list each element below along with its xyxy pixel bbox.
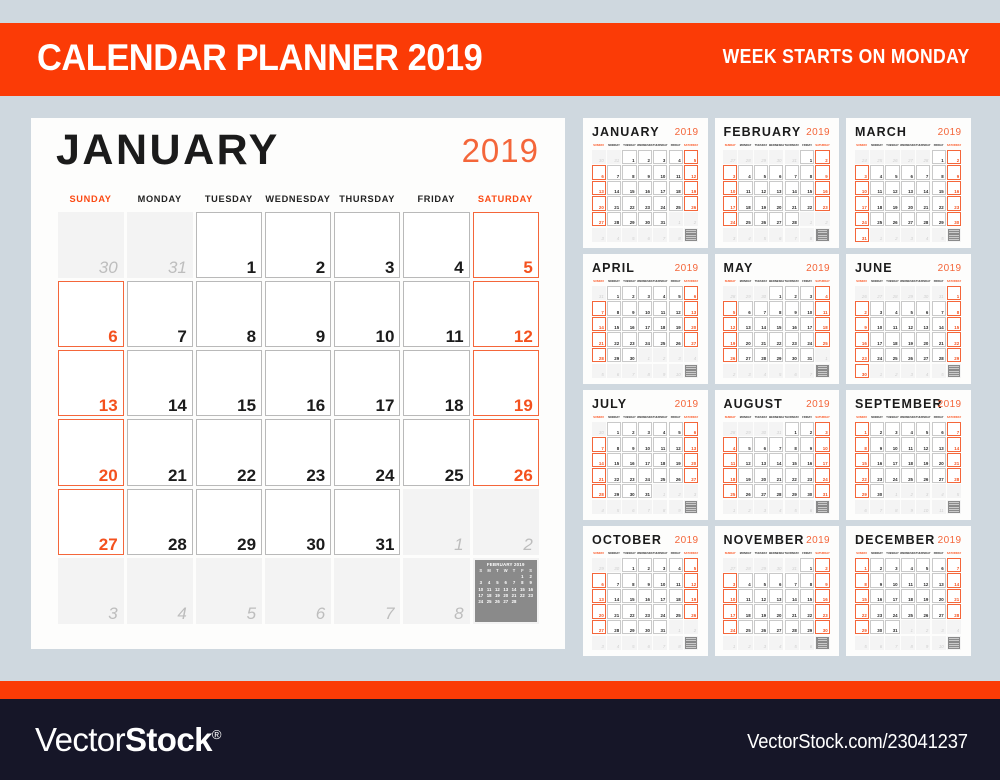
- mini-day-cell[interactable]: 1: [800, 150, 814, 164]
- mini-day-cell[interactable]: 8: [785, 437, 799, 451]
- mini-month-card-august[interactable]: AUGUST2019SUNDAYMONDAYTUESDAYWEDNESDAYTH…: [715, 390, 840, 520]
- mini-day-cell[interactable]: 27: [723, 150, 737, 164]
- main-day-cell[interactable]: 2: [473, 489, 539, 555]
- mini-day-cell[interactable]: 3: [592, 228, 606, 242]
- mini-day-cell[interactable]: 2: [638, 558, 652, 572]
- mini-day-cell[interactable]: 7: [885, 636, 899, 650]
- mini-day-cell[interactable]: 4: [901, 422, 915, 436]
- mini-day-cell[interactable]: 28: [785, 212, 799, 226]
- mini-day-cell[interactable]: 24: [855, 150, 869, 164]
- mini-month-card-february[interactable]: FEBRUARY2019SUNDAYMONDAYTUESDAYWEDNESDAY…: [715, 118, 840, 248]
- mini-day-cell[interactable]: 8: [947, 301, 961, 315]
- mini-day-cell[interactable]: 10: [932, 636, 946, 650]
- mini-day-cell[interactable]: 4: [684, 348, 698, 362]
- mini-day-cell[interactable]: 1: [669, 212, 683, 226]
- mini-day-cell[interactable]: 20: [932, 453, 946, 467]
- main-day-cell[interactable]: 1: [403, 489, 469, 555]
- mini-day-cell[interactable]: 6: [916, 301, 930, 315]
- mini-day-cell[interactable]: 6: [785, 364, 799, 378]
- mini-day-cell[interactable]: 2: [785, 286, 799, 300]
- mini-day-cell[interactable]: 4: [815, 286, 829, 300]
- mini-day-cell[interactable]: 25: [738, 212, 752, 226]
- main-day-cell[interactable]: 30: [265, 489, 331, 555]
- mini-day-cell[interactable]: 12: [738, 453, 752, 467]
- mini-day-cell[interactable]: 5: [901, 301, 915, 315]
- mini-day-cell[interactable]: 28: [607, 212, 621, 226]
- mini-day-cell[interactable]: 31: [769, 422, 783, 436]
- main-day-cell[interactable]: 16: [265, 350, 331, 416]
- mini-day-cell[interactable]: 19: [669, 453, 683, 467]
- mini-day-cell[interactable]: 6: [870, 636, 884, 650]
- mini-day-cell[interactable]: 30: [870, 484, 884, 498]
- mini-day-cell[interactable]: 16: [622, 317, 636, 331]
- mini-day-cell[interactable]: 28: [738, 150, 752, 164]
- main-day-cell[interactable]: 13: [58, 350, 124, 416]
- mini-day-cell[interactable]: 5: [754, 228, 768, 242]
- mini-day-cell[interactable]: 5: [592, 364, 606, 378]
- mini-day-cell[interactable]: 17: [653, 181, 667, 195]
- mini-day-cell[interactable]: 24: [870, 348, 884, 362]
- mini-day-cell[interactable]: 24: [638, 468, 652, 482]
- mini-day-cell[interactable]: 11: [901, 437, 915, 451]
- mini-day-cell[interactable]: 27: [916, 348, 930, 362]
- main-day-cell[interactable]: 4: [127, 558, 193, 624]
- mini-day-cell[interactable]: 1: [785, 422, 799, 436]
- mini-day-cell[interactable]: 15: [800, 589, 814, 603]
- mini-day-cell[interactable]: 21: [947, 453, 961, 467]
- mini-day-cell[interactable]: 4: [607, 228, 621, 242]
- mini-day-cell[interactable]: 1: [855, 422, 869, 436]
- mini-day-cell[interactable]: 1: [901, 620, 915, 634]
- mini-day-cell[interactable]: 31: [653, 212, 667, 226]
- mini-day-cell[interactable]: 5: [754, 165, 768, 179]
- mini-day-cell[interactable]: 28: [592, 348, 606, 362]
- mini-day-cell[interactable]: 21: [592, 332, 606, 346]
- mini-day-cell[interactable]: 30: [592, 422, 606, 436]
- mini-day-cell[interactable]: 2: [738, 500, 752, 514]
- mini-day-cell[interactable]: 30: [916, 286, 930, 300]
- mini-day-cell[interactable]: 6: [901, 165, 915, 179]
- mini-day-cell[interactable]: 4: [653, 286, 667, 300]
- mini-day-cell[interactable]: 19: [916, 453, 930, 467]
- mini-day-cell[interactable]: 24: [638, 332, 652, 346]
- mini-day-cell[interactable]: 20: [901, 196, 915, 210]
- mini-day-cell[interactable]: 14: [947, 573, 961, 587]
- mini-day-cell[interactable]: 9: [622, 437, 636, 451]
- mini-day-cell[interactable]: 1: [622, 558, 636, 572]
- mini-day-cell[interactable]: 10: [916, 500, 930, 514]
- mini-day-cell[interactable]: 16: [622, 453, 636, 467]
- mini-day-cell[interactable]: 17: [638, 317, 652, 331]
- mini-day-cell[interactable]: 29: [592, 558, 606, 572]
- mini-day-cell[interactable]: 1: [769, 286, 783, 300]
- mini-day-cell[interactable]: 7: [916, 165, 930, 179]
- mini-day-cell[interactable]: 2: [870, 558, 884, 572]
- mini-day-cell[interactable]: 1: [607, 286, 621, 300]
- mini-day-cell[interactable]: 9: [800, 437, 814, 451]
- mini-day-cell[interactable]: 5: [932, 364, 946, 378]
- mini-day-cell[interactable]: 19: [754, 604, 768, 618]
- mini-day-cell[interactable]: 5: [916, 422, 930, 436]
- mini-day-cell[interactable]: 4: [769, 636, 783, 650]
- mini-day-cell[interactable]: 18: [870, 196, 884, 210]
- mini-day-cell[interactable]: 23: [815, 604, 829, 618]
- mini-day-cell[interactable]: 29: [622, 620, 636, 634]
- mini-day-cell[interactable]: 27: [592, 212, 606, 226]
- mini-day-cell[interactable]: 17: [800, 317, 814, 331]
- mini-day-cell[interactable]: 14: [916, 181, 930, 195]
- mini-day-cell[interactable]: 7: [592, 301, 606, 315]
- mini-day-cell[interactable]: 21: [785, 604, 799, 618]
- mini-day-cell[interactable]: 21: [947, 589, 961, 603]
- mini-day-cell[interactable]: 5: [669, 422, 683, 436]
- mini-month-card-october[interactable]: OCTOBER2019SUNDAYMONDAYTUESDAYWEDNESDAYT…: [583, 526, 708, 656]
- mini-day-cell-badge[interactable]: [815, 364, 829, 378]
- mini-day-cell[interactable]: 29: [738, 286, 752, 300]
- mini-day-cell[interactable]: 21: [607, 196, 621, 210]
- mini-day-cell[interactable]: 6: [754, 437, 768, 451]
- mini-day-cell[interactable]: 3: [815, 422, 829, 436]
- mini-day-cell[interactable]: 5: [669, 286, 683, 300]
- mini-day-cell[interactable]: 20: [684, 453, 698, 467]
- mini-day-cell[interactable]: 17: [723, 604, 737, 618]
- mini-day-cell[interactable]: 4: [738, 165, 752, 179]
- mini-day-cell[interactable]: 13: [916, 317, 930, 331]
- main-day-cell[interactable]: 8: [196, 281, 262, 347]
- mini-day-cell[interactable]: 9: [815, 165, 829, 179]
- main-day-cell[interactable]: 18: [403, 350, 469, 416]
- mini-day-cell[interactable]: 9: [916, 636, 930, 650]
- mini-day-cell[interactable]: 17: [815, 453, 829, 467]
- mini-day-cell[interactable]: 7: [638, 500, 652, 514]
- mini-day-cell[interactable]: 28: [916, 150, 930, 164]
- mini-day-cell[interactable]: 11: [723, 453, 737, 467]
- mini-day-cell[interactable]: 2: [684, 620, 698, 634]
- mini-day-cell[interactable]: 7: [653, 228, 667, 242]
- mini-day-cell[interactable]: 22: [622, 196, 636, 210]
- mini-day-cell[interactable]: 8: [885, 500, 899, 514]
- mini-day-cell[interactable]: 31: [638, 484, 652, 498]
- mini-day-cell[interactable]: 3: [754, 636, 768, 650]
- mini-day-cell[interactable]: 4: [738, 573, 752, 587]
- mini-day-cell[interactable]: 5: [723, 301, 737, 315]
- mini-day-cell[interactable]: 8: [901, 636, 915, 650]
- mini-day-cell[interactable]: 16: [800, 453, 814, 467]
- mini-day-cell[interactable]: 13: [738, 317, 752, 331]
- mini-day-cell[interactable]: 30: [855, 364, 869, 378]
- mini-day-cell[interactable]: 4: [870, 165, 884, 179]
- main-day-cell[interactable]: 27: [58, 489, 124, 555]
- mini-day-cell[interactable]: 8: [607, 437, 621, 451]
- mini-day-cell[interactable]: 7: [622, 364, 636, 378]
- mini-day-cell[interactable]: 22: [855, 468, 869, 482]
- mini-day-cell[interactable]: 26: [901, 348, 915, 362]
- main-day-cell[interactable]: 6: [265, 558, 331, 624]
- mini-day-cell[interactable]: 16: [638, 181, 652, 195]
- mini-day-cell[interactable]: 13: [769, 589, 783, 603]
- mini-day-cell[interactable]: 23: [622, 468, 636, 482]
- mini-day-cell[interactable]: 27: [754, 484, 768, 498]
- mini-day-cell[interactable]: 15: [800, 181, 814, 195]
- mini-day-cell[interactable]: 25: [885, 348, 899, 362]
- main-day-cell[interactable]: 31: [127, 212, 193, 278]
- mini-day-cell[interactable]: 23: [870, 468, 884, 482]
- mini-day-cell[interactable]: 2: [723, 364, 737, 378]
- mini-day-cell[interactable]: 15: [769, 317, 783, 331]
- mini-day-cell[interactable]: 10: [885, 437, 899, 451]
- mini-day-cell[interactable]: 26: [669, 332, 683, 346]
- main-day-cell[interactable]: 17: [334, 350, 400, 416]
- mini-day-cell[interactable]: 3: [800, 286, 814, 300]
- mini-day-cell[interactable]: 22: [855, 604, 869, 618]
- mini-day-cell[interactable]: 2: [622, 422, 636, 436]
- mini-day-cell[interactable]: 4: [947, 620, 961, 634]
- main-day-cell[interactable]: 31: [334, 489, 400, 555]
- mini-day-cell[interactable]: 6: [932, 558, 946, 572]
- mini-day-cell[interactable]: 1: [669, 620, 683, 634]
- mini-day-cell[interactable]: 6: [684, 286, 698, 300]
- mini-day-cell[interactable]: 4: [653, 422, 667, 436]
- mini-day-cell[interactable]: 19: [738, 468, 752, 482]
- mini-day-cell[interactable]: 16: [870, 453, 884, 467]
- mini-day-cell[interactable]: 18: [653, 453, 667, 467]
- mini-day-cell[interactable]: 30: [870, 620, 884, 634]
- mini-day-cell-badge[interactable]: [815, 500, 829, 514]
- mini-day-cell[interactable]: 15: [947, 317, 961, 331]
- mini-day-cell[interactable]: 10: [638, 301, 652, 315]
- mini-day-cell[interactable]: 8: [855, 437, 869, 451]
- mini-day-cell[interactable]: 6: [638, 636, 652, 650]
- mini-day-cell[interactable]: 18: [738, 604, 752, 618]
- mini-day-cell[interactable]: 17: [885, 453, 899, 467]
- mini-day-cell[interactable]: 4: [916, 364, 930, 378]
- mini-day-cell[interactable]: 30: [785, 348, 799, 362]
- mini-day-cell[interactable]: 2: [653, 348, 667, 362]
- mini-day-cell[interactable]: 28: [738, 558, 752, 572]
- mini-day-cell-badge[interactable]: [684, 636, 698, 650]
- mini-day-cell[interactable]: 25: [870, 212, 884, 226]
- mini-day-cell[interactable]: 12: [754, 181, 768, 195]
- mini-day-cell[interactable]: 6: [607, 364, 621, 378]
- mini-day-cell[interactable]: 21: [754, 332, 768, 346]
- main-day-cell[interactable]: 15: [196, 350, 262, 416]
- mini-day-cell[interactable]: 22: [769, 332, 783, 346]
- main-day-cell[interactable]: 10: [334, 281, 400, 347]
- mini-day-cell[interactable]: 17: [723, 196, 737, 210]
- mini-day-cell[interactable]: 28: [592, 484, 606, 498]
- mini-day-cell[interactable]: 4: [901, 558, 915, 572]
- mini-day-cell[interactable]: 5: [855, 636, 869, 650]
- mini-day-cell[interactable]: 19: [669, 317, 683, 331]
- mini-day-cell[interactable]: 9: [947, 165, 961, 179]
- mini-day-cell[interactable]: 5: [932, 228, 946, 242]
- mini-day-cell[interactable]: 19: [901, 332, 915, 346]
- mini-day-cell[interactable]: 2: [622, 286, 636, 300]
- mini-day-cell[interactable]: 3: [669, 348, 683, 362]
- mini-day-cell[interactable]: 27: [769, 212, 783, 226]
- mini-day-cell[interactable]: 3: [885, 422, 899, 436]
- mini-day-cell[interactable]: 30: [622, 348, 636, 362]
- mini-day-cell[interactable]: 22: [800, 604, 814, 618]
- mini-day-cell[interactable]: 29: [855, 484, 869, 498]
- mini-day-cell[interactable]: 4: [607, 636, 621, 650]
- mini-day-cell[interactable]: 25: [669, 196, 683, 210]
- mini-day-cell[interactable]: 26: [684, 196, 698, 210]
- mini-day-cell[interactable]: 9: [870, 437, 884, 451]
- mini-month-card-july[interactable]: JULY2019SUNDAYMONDAYTUESDAYWEDNESDAYTHUR…: [583, 390, 708, 520]
- mini-day-cell[interactable]: 2: [815, 558, 829, 572]
- mini-day-cell[interactable]: 24: [723, 620, 737, 634]
- mini-day-cell[interactable]: 20: [592, 196, 606, 210]
- mini-day-cell[interactable]: 18: [653, 317, 667, 331]
- mini-day-cell[interactable]: 21: [916, 196, 930, 210]
- main-day-cell[interactable]: 5: [196, 558, 262, 624]
- mini-day-cell[interactable]: 7: [592, 437, 606, 451]
- mini-day-cell[interactable]: 17: [870, 332, 884, 346]
- mini-day-cell[interactable]: 30: [638, 620, 652, 634]
- mini-day-cell[interactable]: 8: [932, 165, 946, 179]
- main-day-cell[interactable]: 12: [473, 281, 539, 347]
- mini-day-cell[interactable]: 18: [738, 196, 752, 210]
- mini-day-cell[interactable]: 5: [622, 636, 636, 650]
- mini-day-cell[interactable]: 20: [932, 589, 946, 603]
- mini-day-cell[interactable]: 9: [638, 573, 652, 587]
- mini-day-cell[interactable]: 29: [901, 286, 915, 300]
- mini-day-cell[interactable]: 3: [723, 228, 737, 242]
- mini-day-cell[interactable]: 4: [723, 437, 737, 451]
- mini-day-cell[interactable]: 28: [947, 604, 961, 618]
- mini-day-cell[interactable]: 3: [723, 165, 737, 179]
- mini-day-cell[interactable]: 8: [800, 228, 814, 242]
- mini-day-cell[interactable]: 19: [754, 196, 768, 210]
- mini-day-cell[interactable]: 3: [738, 364, 752, 378]
- mini-day-cell[interactable]: 24: [653, 196, 667, 210]
- mini-day-cell[interactable]: 7: [870, 500, 884, 514]
- mini-day-cell[interactable]: 13: [932, 437, 946, 451]
- mini-day-cell[interactable]: 16: [870, 589, 884, 603]
- mini-day-cell[interactable]: 3: [684, 484, 698, 498]
- main-day-cell[interactable]: 8: [403, 558, 469, 624]
- mini-day-cell[interactable]: 1: [800, 558, 814, 572]
- mini-day-cell[interactable]: 30: [769, 150, 783, 164]
- mini-day-cell[interactable]: 8: [638, 364, 652, 378]
- mini-day-cell[interactable]: 29: [738, 422, 752, 436]
- mini-day-cell[interactable]: 25: [901, 468, 915, 482]
- mini-day-cell[interactable]: 31: [932, 286, 946, 300]
- mini-day-cell[interactable]: 29: [947, 348, 961, 362]
- mini-day-cell[interactable]: 20: [769, 196, 783, 210]
- mini-day-cell[interactable]: 11: [870, 181, 884, 195]
- mini-day-cell[interactable]: 17: [855, 196, 869, 210]
- mini-day-cell[interactable]: 25: [669, 604, 683, 618]
- mini-day-cell[interactable]: 31: [785, 558, 799, 572]
- mini-day-cell[interactable]: 6: [769, 573, 783, 587]
- mini-day-cell[interactable]: 5: [785, 636, 799, 650]
- mini-month-card-april[interactable]: APRIL2019SUNDAYMONDAYTUESDAYWEDNESDAYTHU…: [583, 254, 708, 384]
- mini-day-cell[interactable]: 9: [653, 364, 667, 378]
- mini-day-cell[interactable]: 5: [607, 500, 621, 514]
- mini-day-cell[interactable]: 2: [901, 484, 915, 498]
- main-day-cell[interactable]: 6: [58, 281, 124, 347]
- mini-day-cell[interactable]: 10: [855, 181, 869, 195]
- mini-day-cell[interactable]: 8: [669, 228, 683, 242]
- main-day-cell[interactable]: 21: [127, 419, 193, 485]
- mini-day-cell[interactable]: 26: [754, 212, 768, 226]
- mini-day-cell[interactable]: 12: [684, 165, 698, 179]
- mini-day-cell[interactable]: 17: [638, 453, 652, 467]
- mini-day-cell[interactable]: 19: [684, 181, 698, 195]
- mini-day-cell[interactable]: 29: [607, 348, 621, 362]
- mini-day-cell[interactable]: 6: [855, 500, 869, 514]
- mini-day-cell[interactable]: 14: [947, 437, 961, 451]
- mini-day-cell[interactable]: 28: [932, 348, 946, 362]
- mini-day-cell[interactable]: 25: [815, 332, 829, 346]
- main-day-cell[interactable]: 11: [403, 281, 469, 347]
- mini-day-cell[interactable]: 2: [870, 422, 884, 436]
- mini-day-cell[interactable]: 29: [607, 484, 621, 498]
- mini-day-cell[interactable]: 20: [769, 604, 783, 618]
- mini-day-cell[interactable]: 10: [653, 165, 667, 179]
- main-day-cell[interactable]: 5: [473, 212, 539, 278]
- mini-day-cell[interactable]: 1: [885, 484, 899, 498]
- mini-day-cell[interactable]: 13: [592, 181, 606, 195]
- mini-day-cell[interactable]: 4: [916, 228, 930, 242]
- mini-day-cell[interactable]: 14: [607, 589, 621, 603]
- mini-day-cell[interactable]: 20: [592, 604, 606, 618]
- mini-day-cell-badge[interactable]: [947, 364, 961, 378]
- mini-day-cell[interactable]: 26: [669, 468, 683, 482]
- mini-day-cell[interactable]: 9: [669, 500, 683, 514]
- mini-day-cell-badge[interactable]: [947, 636, 961, 650]
- mini-day-cell[interactable]: 16: [947, 181, 961, 195]
- mini-day-cell[interactable]: 31: [592, 286, 606, 300]
- mini-day-cell[interactable]: 18: [901, 453, 915, 467]
- mini-day-cell[interactable]: 20: [916, 332, 930, 346]
- mini-day-cell[interactable]: 2: [638, 150, 652, 164]
- mini-day-cell[interactable]: 20: [754, 468, 768, 482]
- mini-day-cell[interactable]: 3: [638, 286, 652, 300]
- mini-day-cell[interactable]: 11: [653, 437, 667, 451]
- mini-day-cell[interactable]: 27: [901, 212, 915, 226]
- mini-day-cell[interactable]: 27: [769, 620, 783, 634]
- mini-day-cell[interactable]: 7: [607, 573, 621, 587]
- mini-day-cell[interactable]: 1: [723, 636, 737, 650]
- mini-day-cell[interactable]: 1: [870, 228, 884, 242]
- mini-day-cell[interactable]: 2: [815, 212, 829, 226]
- mini-day-cell[interactable]: 30: [947, 212, 961, 226]
- mini-day-cell[interactable]: 24: [855, 212, 869, 226]
- main-day-cell[interactable]: 7: [127, 281, 193, 347]
- mini-day-cell[interactable]: 4: [932, 484, 946, 498]
- mini-day-cell[interactable]: 6: [800, 500, 814, 514]
- mini-day-cell[interactable]: 1: [622, 150, 636, 164]
- mini-day-cell[interactable]: 2: [684, 212, 698, 226]
- main-day-cell[interactable]: 23: [265, 419, 331, 485]
- mini-day-cell[interactable]: 12: [901, 317, 915, 331]
- mini-day-cell[interactable]: 18: [669, 589, 683, 603]
- mini-day-cell[interactable]: 5: [916, 558, 930, 572]
- mini-day-cell[interactable]: 23: [800, 468, 814, 482]
- mini-day-cell[interactable]: 18: [669, 181, 683, 195]
- mini-day-cell[interactable]: 21: [607, 604, 621, 618]
- mini-day-cell[interactable]: 5: [622, 228, 636, 242]
- mini-day-cell[interactable]: 26: [684, 604, 698, 618]
- mini-day-cell[interactable]: 11: [885, 317, 899, 331]
- mini-day-cell[interactable]: 4: [592, 500, 606, 514]
- mini-day-cell[interactable]: 22: [932, 196, 946, 210]
- mini-day-cell[interactable]: 27: [932, 604, 946, 618]
- mini-day-cell[interactable]: 2: [669, 484, 683, 498]
